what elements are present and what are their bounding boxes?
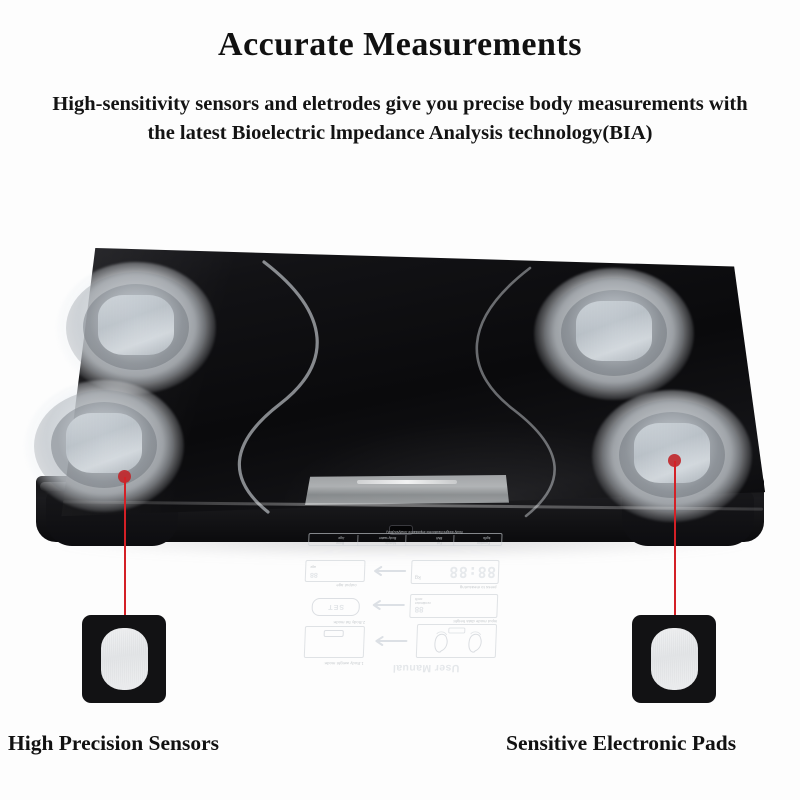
arrow-icon-3 bbox=[367, 564, 408, 578]
callout-box-high-precision-sensors bbox=[82, 615, 166, 703]
arrow-icon-2 bbox=[366, 598, 407, 612]
pad-metal-contact bbox=[98, 295, 174, 355]
footprints-icon bbox=[417, 625, 496, 657]
scale-outline-icon-box bbox=[304, 626, 365, 658]
spec-cell: Bone bbox=[336, 541, 344, 545]
spec-cell: Function bbox=[477, 541, 491, 545]
page-subtitle: High-sensitivity sensors and eletrodes g… bbox=[38, 90, 762, 148]
spec-table-header: Body weight Bioelectric Impedance Analys… bbox=[386, 531, 462, 535]
sensor-pad-closeup bbox=[101, 628, 148, 690]
electrode-pad-top-right bbox=[530, 268, 698, 406]
set-button-label: SET bbox=[327, 604, 344, 611]
pad-metal-contact bbox=[576, 301, 652, 361]
electrode-pad-bottom-left bbox=[20, 380, 188, 518]
mode-1-label: 1.Body weight mode: bbox=[323, 661, 363, 666]
output-value: 88 bbox=[310, 571, 318, 578]
printed-user-manual: User Manual 1.Body weight mode: 2.Body f… bbox=[297, 524, 509, 676]
weight-unit: kg bbox=[415, 574, 421, 580]
spec-cell: BMI bbox=[436, 537, 442, 541]
spec-cell: Fat bbox=[437, 541, 442, 545]
page-title: Accurate Measurements bbox=[0, 26, 800, 64]
input-unit-1: centimeter bbox=[415, 601, 431, 605]
callout-leader-line-right bbox=[674, 461, 676, 617]
callout-box-sensitive-electronic-pads bbox=[632, 615, 716, 703]
caption-sensitive-electronic-pads: Sensitive Electronic Pads bbox=[506, 731, 736, 756]
product-image-scale: User Manual 1.Body weight mode: 2.Body f… bbox=[0, 232, 800, 572]
input-value: 88 bbox=[414, 605, 423, 614]
weight-digits: 88:88 bbox=[449, 563, 497, 581]
mode-2-label: 2.Body fat mode: bbox=[332, 620, 365, 625]
input-height-box: 88 centimeter cm/ft bbox=[409, 594, 498, 618]
pad-metal-contact bbox=[66, 413, 142, 473]
weight-display-label: press to measuring bbox=[460, 585, 497, 590]
spec-cell: Body water bbox=[379, 537, 397, 541]
arrow-icon-1 bbox=[368, 634, 409, 648]
pad-metal-contact bbox=[634, 423, 710, 483]
spec-cell: Age bbox=[338, 537, 344, 541]
led-display-highlight bbox=[357, 480, 457, 484]
input-unit-2: cm/ft bbox=[415, 597, 423, 601]
footprint-icon-box bbox=[416, 624, 497, 658]
spec-cell: kg/lb bbox=[483, 537, 491, 541]
spec-table: Function Fat Muscle Bone kg/lb BMI Body … bbox=[310, 530, 503, 546]
caption-high-precision-sensors: High Precision Sensors bbox=[8, 731, 219, 756]
set-button[interactable]: SET bbox=[311, 598, 360, 616]
spec-cell: Muscle bbox=[385, 541, 396, 545]
input-box-label: input mode data height bbox=[453, 619, 497, 624]
output-unit: age bbox=[310, 565, 316, 569]
output-box-label: output age bbox=[336, 583, 357, 588]
manual-title: User Manual bbox=[392, 662, 459, 674]
callout-leader-line-left bbox=[124, 477, 126, 617]
weight-display-box: 88:88 kg bbox=[411, 560, 500, 584]
infographic-page: Accurate Measurements High-sensitivity s… bbox=[0, 0, 800, 800]
scale-outline-display bbox=[324, 630, 344, 637]
electronic-pad-closeup bbox=[651, 628, 698, 690]
output-age-box: 88 age bbox=[305, 560, 366, 582]
